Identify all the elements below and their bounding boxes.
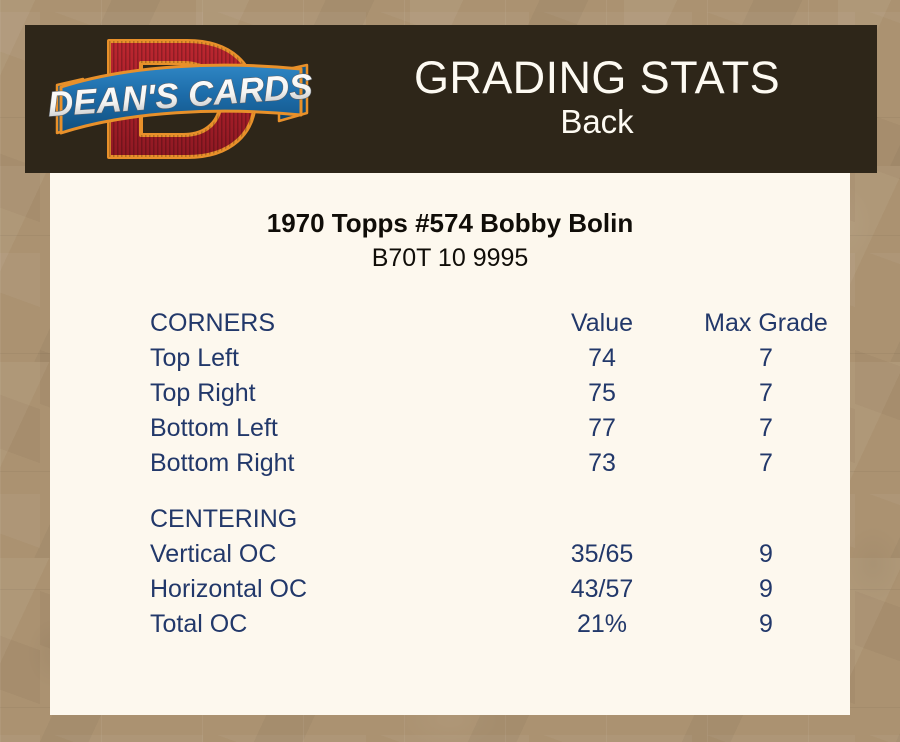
content-panel: 1970 Topps #574 Bobby Bolin B70T 10 9995… bbox=[50, 173, 850, 715]
column-header-value bbox=[522, 502, 682, 537]
column-header-max-grade bbox=[682, 502, 850, 537]
table-row: Bottom Right737 bbox=[150, 446, 850, 481]
section-title: CENTERING bbox=[150, 502, 522, 537]
row-label: Vertical OC bbox=[150, 537, 522, 572]
row-value: 74 bbox=[522, 341, 682, 376]
row-max-grade: 7 bbox=[682, 411, 850, 446]
table-row: Vertical OC35/659 bbox=[150, 537, 850, 572]
row-value: 43/57 bbox=[522, 572, 682, 607]
row-max-grade: 7 bbox=[682, 341, 850, 376]
column-header-value: Value bbox=[522, 306, 682, 341]
table-row: Bottom Left777 bbox=[150, 411, 850, 446]
stats-table-body: CORNERSValueMax GradeTop Left747Top Righ… bbox=[150, 306, 850, 642]
row-value: 73 bbox=[522, 446, 682, 481]
section-title: CORNERS bbox=[150, 306, 522, 341]
row-label: Top Right bbox=[150, 376, 522, 411]
card-title: 1970 Topps #574 Bobby Bolin bbox=[50, 208, 850, 239]
row-max-grade: 7 bbox=[682, 376, 850, 411]
row-max-grade: 9 bbox=[682, 607, 850, 642]
row-value: 21% bbox=[522, 607, 682, 642]
logo-artwork: DEAN'S CARDS bbox=[45, 29, 317, 169]
page-subtitle: Back bbox=[560, 102, 633, 142]
row-label: Bottom Right bbox=[150, 446, 522, 481]
header-titles: GRADING STATS Back bbox=[317, 25, 877, 173]
row-label: Total OC bbox=[150, 607, 522, 642]
table-spacer-row bbox=[150, 481, 850, 502]
table-row: Horizontal OC43/579 bbox=[150, 572, 850, 607]
row-max-grade: 9 bbox=[682, 572, 850, 607]
logo-ribbon-text: DEAN'S CARDS bbox=[47, 67, 314, 124]
section-header-row: CORNERSValueMax Grade bbox=[150, 306, 850, 341]
row-max-grade: 9 bbox=[682, 537, 850, 572]
table-row: Top Right757 bbox=[150, 376, 850, 411]
row-label: Horizontal OC bbox=[150, 572, 522, 607]
row-value: 75 bbox=[522, 376, 682, 411]
deans-cards-logo: DEAN'S CARDS bbox=[45, 29, 317, 169]
card-serial: B70T 10 9995 bbox=[50, 244, 850, 273]
grading-stats-table: CORNERSValueMax GradeTop Left747Top Righ… bbox=[150, 306, 850, 642]
row-max-grade: 7 bbox=[682, 446, 850, 481]
row-label: Bottom Left bbox=[150, 411, 522, 446]
header-band: DEAN'S CARDS GRADING STATS Back bbox=[25, 25, 877, 173]
table-row: Top Left747 bbox=[150, 341, 850, 376]
table-row: Total OC21%9 bbox=[150, 607, 850, 642]
row-value: 77 bbox=[522, 411, 682, 446]
row-label: Top Left bbox=[150, 341, 522, 376]
column-header-max-grade: Max Grade bbox=[682, 306, 850, 341]
section-header-row: CENTERING bbox=[150, 502, 850, 537]
row-value: 35/65 bbox=[522, 537, 682, 572]
page-title: GRADING STATS bbox=[414, 55, 780, 102]
